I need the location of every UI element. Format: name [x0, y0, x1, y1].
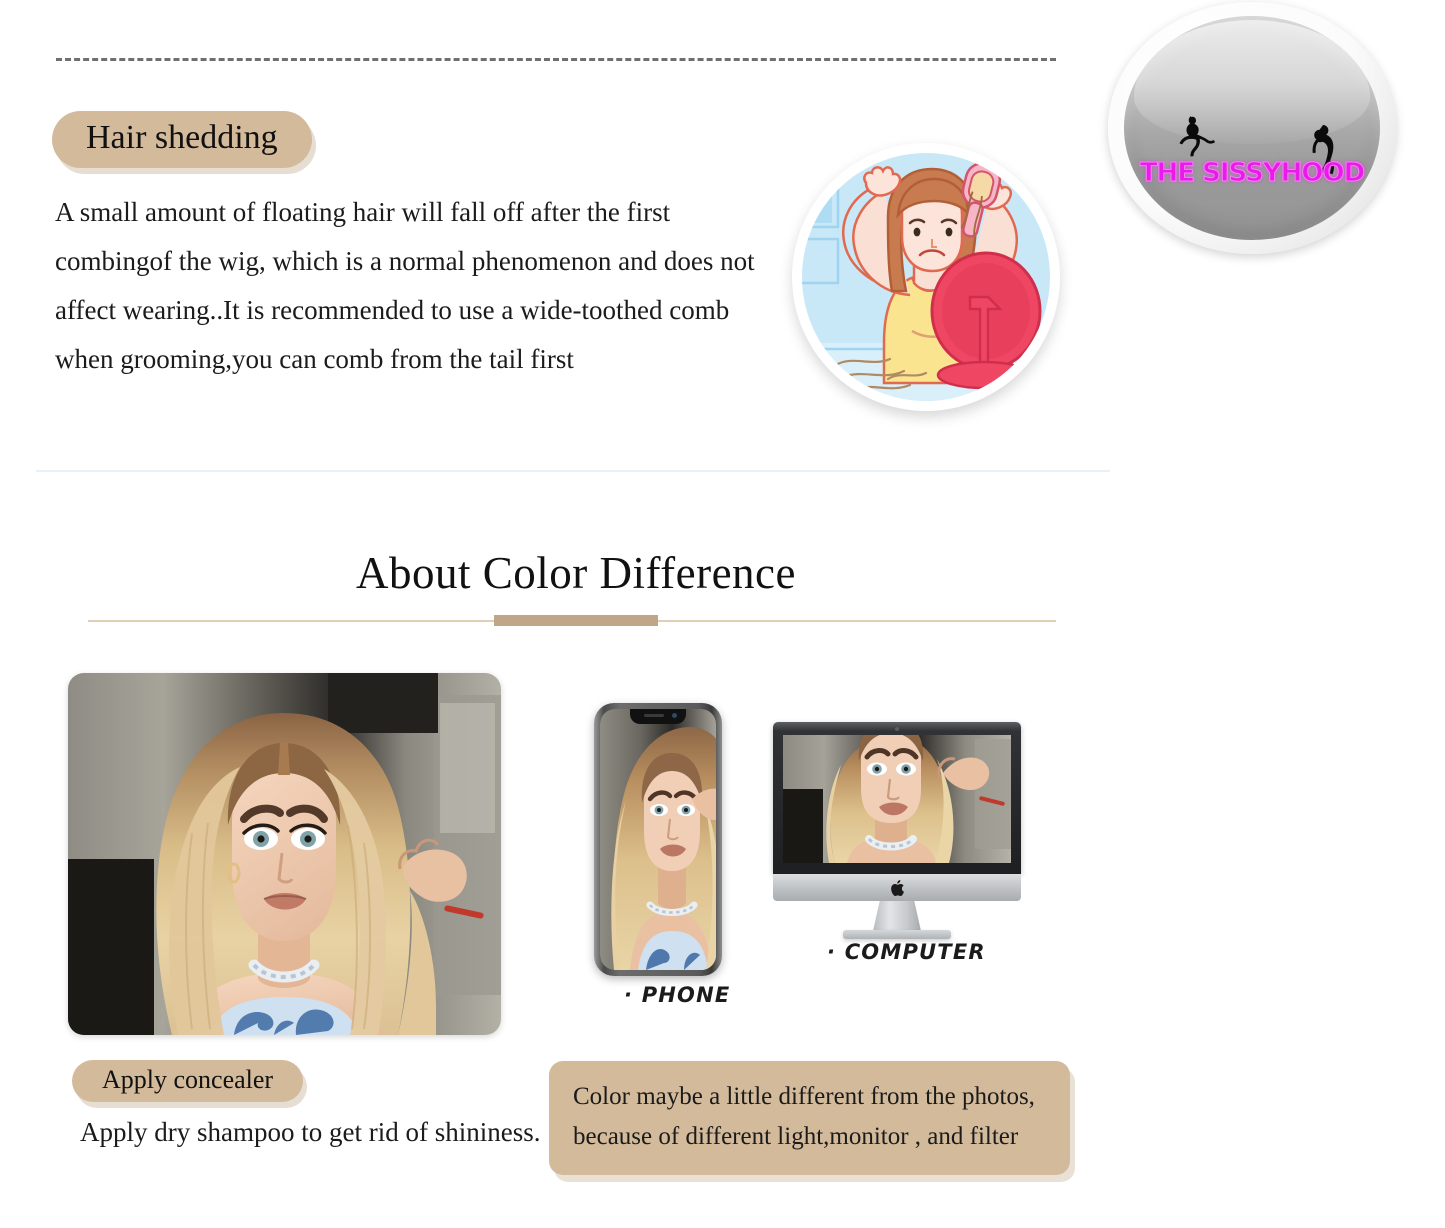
- apple-logo-icon: [890, 880, 904, 896]
- monitor-chin: [773, 874, 1021, 901]
- woman-combing-hair-loss-illustration: [792, 143, 1060, 411]
- note-line-1: Color maybe a little different from the …: [573, 1077, 1046, 1117]
- monitor-bezel: [773, 722, 1021, 874]
- computer-mockup: [773, 722, 1021, 922]
- seated-woman-silhouette-icon: [1175, 115, 1217, 159]
- model-photo-on-computer-screen: [783, 735, 1011, 863]
- model-blonde-ombre-wig-photo: [68, 673, 501, 1035]
- top-dashed-divider: [56, 58, 1056, 61]
- hair-shedding-body-text: A small amount of floating hair will fal…: [55, 188, 785, 384]
- title-underline-accent: [494, 615, 658, 626]
- phone-mockup: [594, 703, 722, 976]
- webcam-icon: [895, 727, 899, 731]
- phone-notch: [630, 709, 686, 724]
- logo-inner-disc: THE SISSYHOOD: [1124, 16, 1380, 240]
- page-title: About Color Difference: [0, 547, 1152, 599]
- brand-wordmark: THE SISSYHOOD: [1140, 158, 1364, 188]
- dry-shampoo-tip: Apply dry shampoo to get rid of shinines…: [80, 1117, 540, 1148]
- hair-shedding-badge: Hair shedding: [52, 111, 312, 168]
- note-line-2: because of different light,monitor , and…: [573, 1117, 1046, 1157]
- apply-concealer-badge: Apply concealer: [72, 1060, 303, 1102]
- phone-label: · PHONE: [624, 983, 730, 1007]
- model-photo-on-phone-screen: [600, 709, 716, 970]
- color-difference-note: Color maybe a little different from the …: [549, 1061, 1070, 1175]
- computer-label: · COMPUTER: [827, 940, 986, 964]
- section-divider: [36, 470, 1110, 472]
- hair-shedding-badge-label: Hair shedding: [52, 111, 312, 168]
- apply-concealer-badge-label: Apply concealer: [72, 1060, 303, 1102]
- brand-logo: THE SISSYHOOD: [1108, 2, 1396, 254]
- monitor-stand-foot: [843, 930, 951, 939]
- monitor-stand-neck: [873, 901, 921, 931]
